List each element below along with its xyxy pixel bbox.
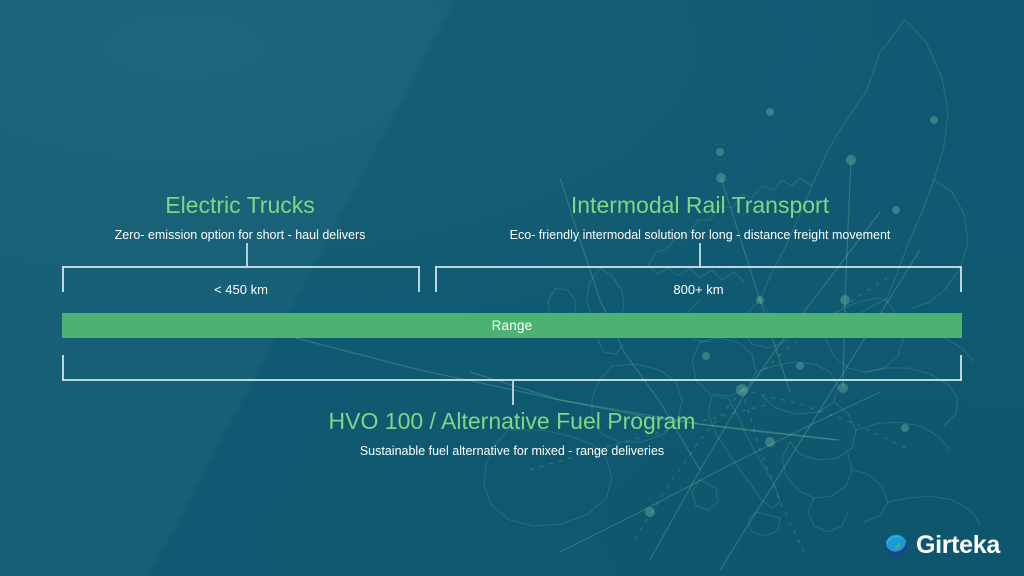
column-title-intermodal-rail: Intermodal Rail Transport [440, 192, 960, 219]
bracket-rail [62, 266, 420, 268]
range-bar-label: Range [492, 318, 533, 333]
column-subtitle-electric-trucks: Zero- emission option for short - haul d… [0, 227, 480, 243]
range-diagram: Electric Trucks Zero- emission option fo… [0, 0, 1024, 576]
girteka-wordmark: Girteka [916, 532, 1000, 558]
column-hvo-program: HVO 100 / Alternative Fuel Program Susta… [0, 408, 1024, 459]
bracket-tick-right [960, 355, 962, 381]
range-label-intermodal-rail: 800+ km [435, 282, 962, 297]
column-title-electric-trucks: Electric Trucks [0, 192, 480, 219]
column-subtitle-intermodal-rail: Eco- friendly intermodal solution for lo… [440, 227, 960, 243]
column-title-hvo-program: HVO 100 / Alternative Fuel Program [0, 408, 1024, 435]
bracket-tick-left [62, 355, 64, 381]
connector-stem-electric-trucks [246, 243, 248, 267]
column-intermodal-rail: Intermodal Rail Transport Eco- friendly … [440, 192, 1024, 243]
girteka-logo: Girteka [883, 532, 1000, 558]
column-subtitle-hvo-program: Sustainable fuel alternative for mixed -… [0, 443, 1024, 459]
slide-canvas: Electric Trucks Zero- emission option fo… [0, 0, 1024, 576]
column-electric-trucks: Electric Trucks Zero- emission option fo… [0, 192, 480, 243]
bracket-hvo-program [62, 355, 962, 381]
bracket-rail [435, 266, 962, 268]
connector-stem-hvo-program [512, 381, 514, 405]
girteka-leaf-globe-icon [883, 532, 909, 558]
connector-stem-intermodal-rail [699, 243, 701, 267]
range-bar: Range [62, 313, 962, 338]
range-label-electric-trucks: < 450 km [62, 282, 420, 297]
